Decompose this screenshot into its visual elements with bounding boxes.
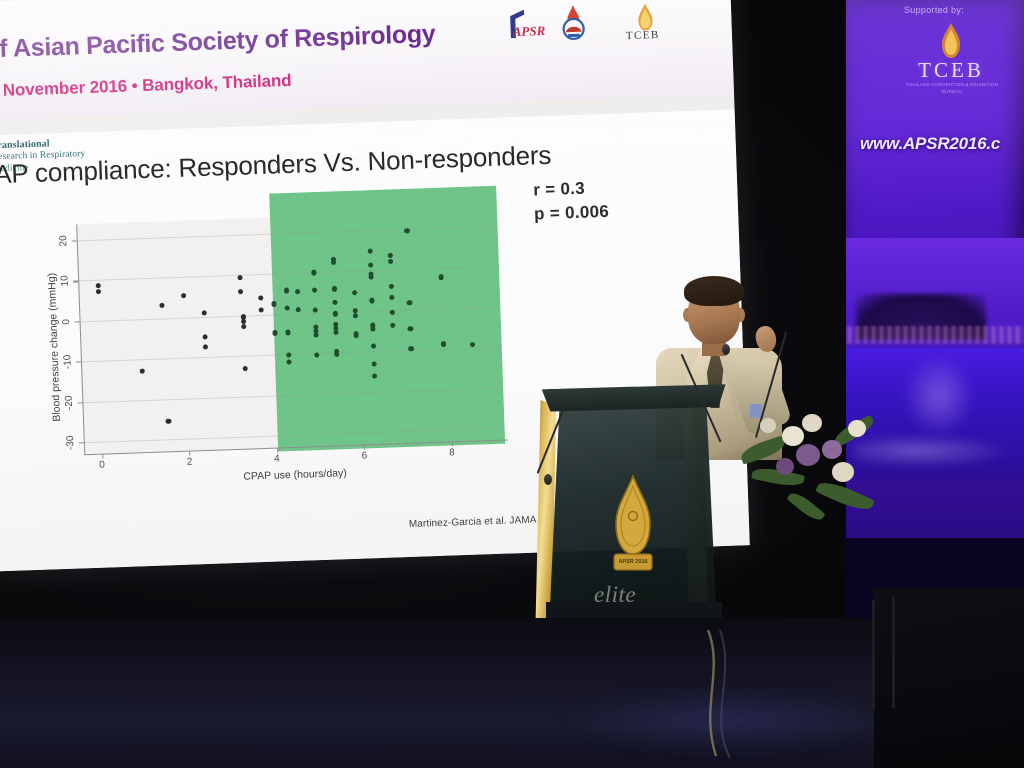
y-axis-tick bbox=[75, 321, 80, 322]
y-axis-tick-label: -10 bbox=[62, 351, 74, 373]
floral-arrangement bbox=[736, 400, 896, 530]
scenic-reflection bbox=[904, 356, 974, 436]
conference-photo-scene: Supported by: TCEB THAILAND CONVENTION &… bbox=[0, 0, 1024, 768]
backdrop-tceb-subtitle: THAILAND CONVENTION & EXHIBITION BUREAU bbox=[904, 82, 1000, 96]
flower-purple bbox=[822, 440, 842, 459]
microphone-head-left bbox=[544, 474, 552, 485]
x-axis-tick bbox=[451, 441, 452, 446]
flower-purple bbox=[776, 458, 794, 475]
x-axis-tick-label: 4 bbox=[274, 453, 280, 464]
speaker-hair bbox=[684, 276, 744, 306]
foliage-leaf bbox=[815, 477, 874, 515]
backdrop-tceb-wordmark: TCEB bbox=[908, 58, 994, 83]
y-axis-tick bbox=[77, 402, 82, 403]
thai-society-emblem-icon bbox=[556, 3, 591, 40]
x-axis-tick bbox=[102, 454, 103, 459]
svg-text:TCEB: TCEB bbox=[626, 29, 660, 42]
pvalue-value: p = 0.006 bbox=[534, 200, 610, 227]
foliage-leaf bbox=[787, 489, 826, 525]
x-axis-tick bbox=[277, 448, 278, 453]
flower-white bbox=[848, 420, 866, 437]
x-axis-title: CPAP use (hours/day) bbox=[85, 462, 505, 489]
organized-by-label: Organized by: bbox=[498, 0, 594, 1]
svg-text:APSR: APSR bbox=[511, 23, 545, 39]
x-axis-tick bbox=[364, 444, 365, 449]
banner-date-location-line: – 15 November 2016 • Bangkok, Thailand bbox=[0, 71, 292, 102]
y-axis-tick bbox=[76, 362, 81, 363]
statistics-annotation: r = 0.3 p = 0.006 bbox=[533, 176, 610, 227]
y-axis-tick-label: 10 bbox=[59, 270, 71, 292]
y-axis-tick bbox=[79, 442, 84, 443]
x-axis-tick bbox=[189, 451, 190, 456]
backdrop-light-haze bbox=[846, 0, 1024, 210]
flower-white bbox=[802, 414, 822, 432]
x-axis-tick-label: 0 bbox=[99, 460, 105, 471]
x-axis-tick-label: 8 bbox=[449, 447, 455, 458]
stage-speaker-cabinet bbox=[874, 588, 1024, 768]
venue-backdrop-banner: Supported by: TCEB THAILAND CONVENTION &… bbox=[846, 0, 1024, 660]
flower-purple bbox=[796, 444, 820, 466]
organized-by-group: Organized by: APSR bbox=[498, 0, 596, 43]
flower-white bbox=[782, 426, 804, 446]
backdrop-supported-label: Supported by: bbox=[904, 5, 964, 15]
scenic-city-lights bbox=[846, 326, 1024, 344]
y-axis-tick-label: -30 bbox=[65, 431, 77, 453]
stage-cable bbox=[690, 630, 810, 760]
congress-banner: s of Asian Pacific Society of Respirolog… bbox=[0, 0, 734, 120]
responders-shaded-region bbox=[269, 186, 505, 452]
apsr-logo-icon: APSR bbox=[504, 6, 551, 42]
logo-line-1: Translational bbox=[0, 138, 50, 151]
y-axis-tick bbox=[73, 281, 78, 282]
microphone-head-right bbox=[722, 344, 730, 355]
flower-white bbox=[832, 462, 854, 482]
backdrop-congress-url: www.APSR2016.c bbox=[860, 134, 1024, 154]
podium-emblem-label: APSR 2016 bbox=[618, 559, 647, 565]
flower-white bbox=[760, 418, 776, 433]
tceb-logo-icon: TCEB bbox=[619, 1, 672, 43]
mic-stand-pole bbox=[892, 596, 895, 708]
x-axis-tick-label: 2 bbox=[187, 457, 193, 468]
y-axis-tick bbox=[72, 241, 77, 242]
mic-stand-pole bbox=[872, 600, 875, 710]
banner-title-line: s of Asian Pacific Society of Respirolog… bbox=[0, 20, 436, 65]
supported-by-group: Supported by: TCEB bbox=[604, 0, 686, 43]
thai-gold-emblem-icon: APSR 2016 bbox=[604, 474, 662, 574]
scatter-chart: CPAP use (hours/day) Blood pressure chan… bbox=[22, 195, 532, 512]
x-axis-tick-label: 6 bbox=[361, 450, 367, 461]
correlation-value: r = 0.3 bbox=[533, 176, 609, 203]
y-axis-tick-label: 0 bbox=[61, 310, 73, 332]
y-axis-tick-label: 20 bbox=[58, 230, 70, 252]
y-axis-tick-label: -20 bbox=[63, 391, 75, 413]
tceb-flame-icon bbox=[938, 22, 964, 60]
